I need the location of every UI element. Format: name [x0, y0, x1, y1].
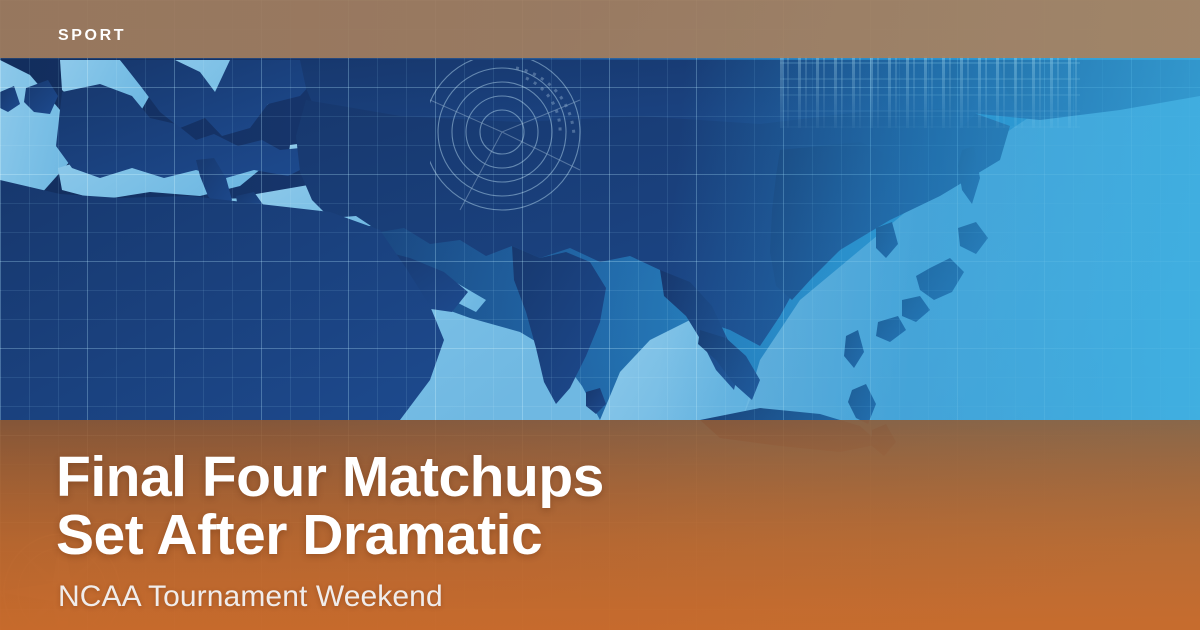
headline: Final Four Matchups Set After Dramatic — [56, 448, 604, 564]
headline-line-2: Set After Dramatic — [56, 506, 604, 564]
category-label: SPORT — [58, 25, 126, 47]
radar-sweep-icon — [430, 60, 600, 220]
digital-data-texture — [780, 56, 1080, 128]
social-share-card: W E SPORT Final Four Matchups Set After … — [0, 0, 1200, 630]
top-category-band — [0, 0, 1200, 58]
subtitle: NCAA Tournament Weekend — [58, 578, 443, 616]
headline-line-1: Final Four Matchups — [56, 448, 604, 506]
